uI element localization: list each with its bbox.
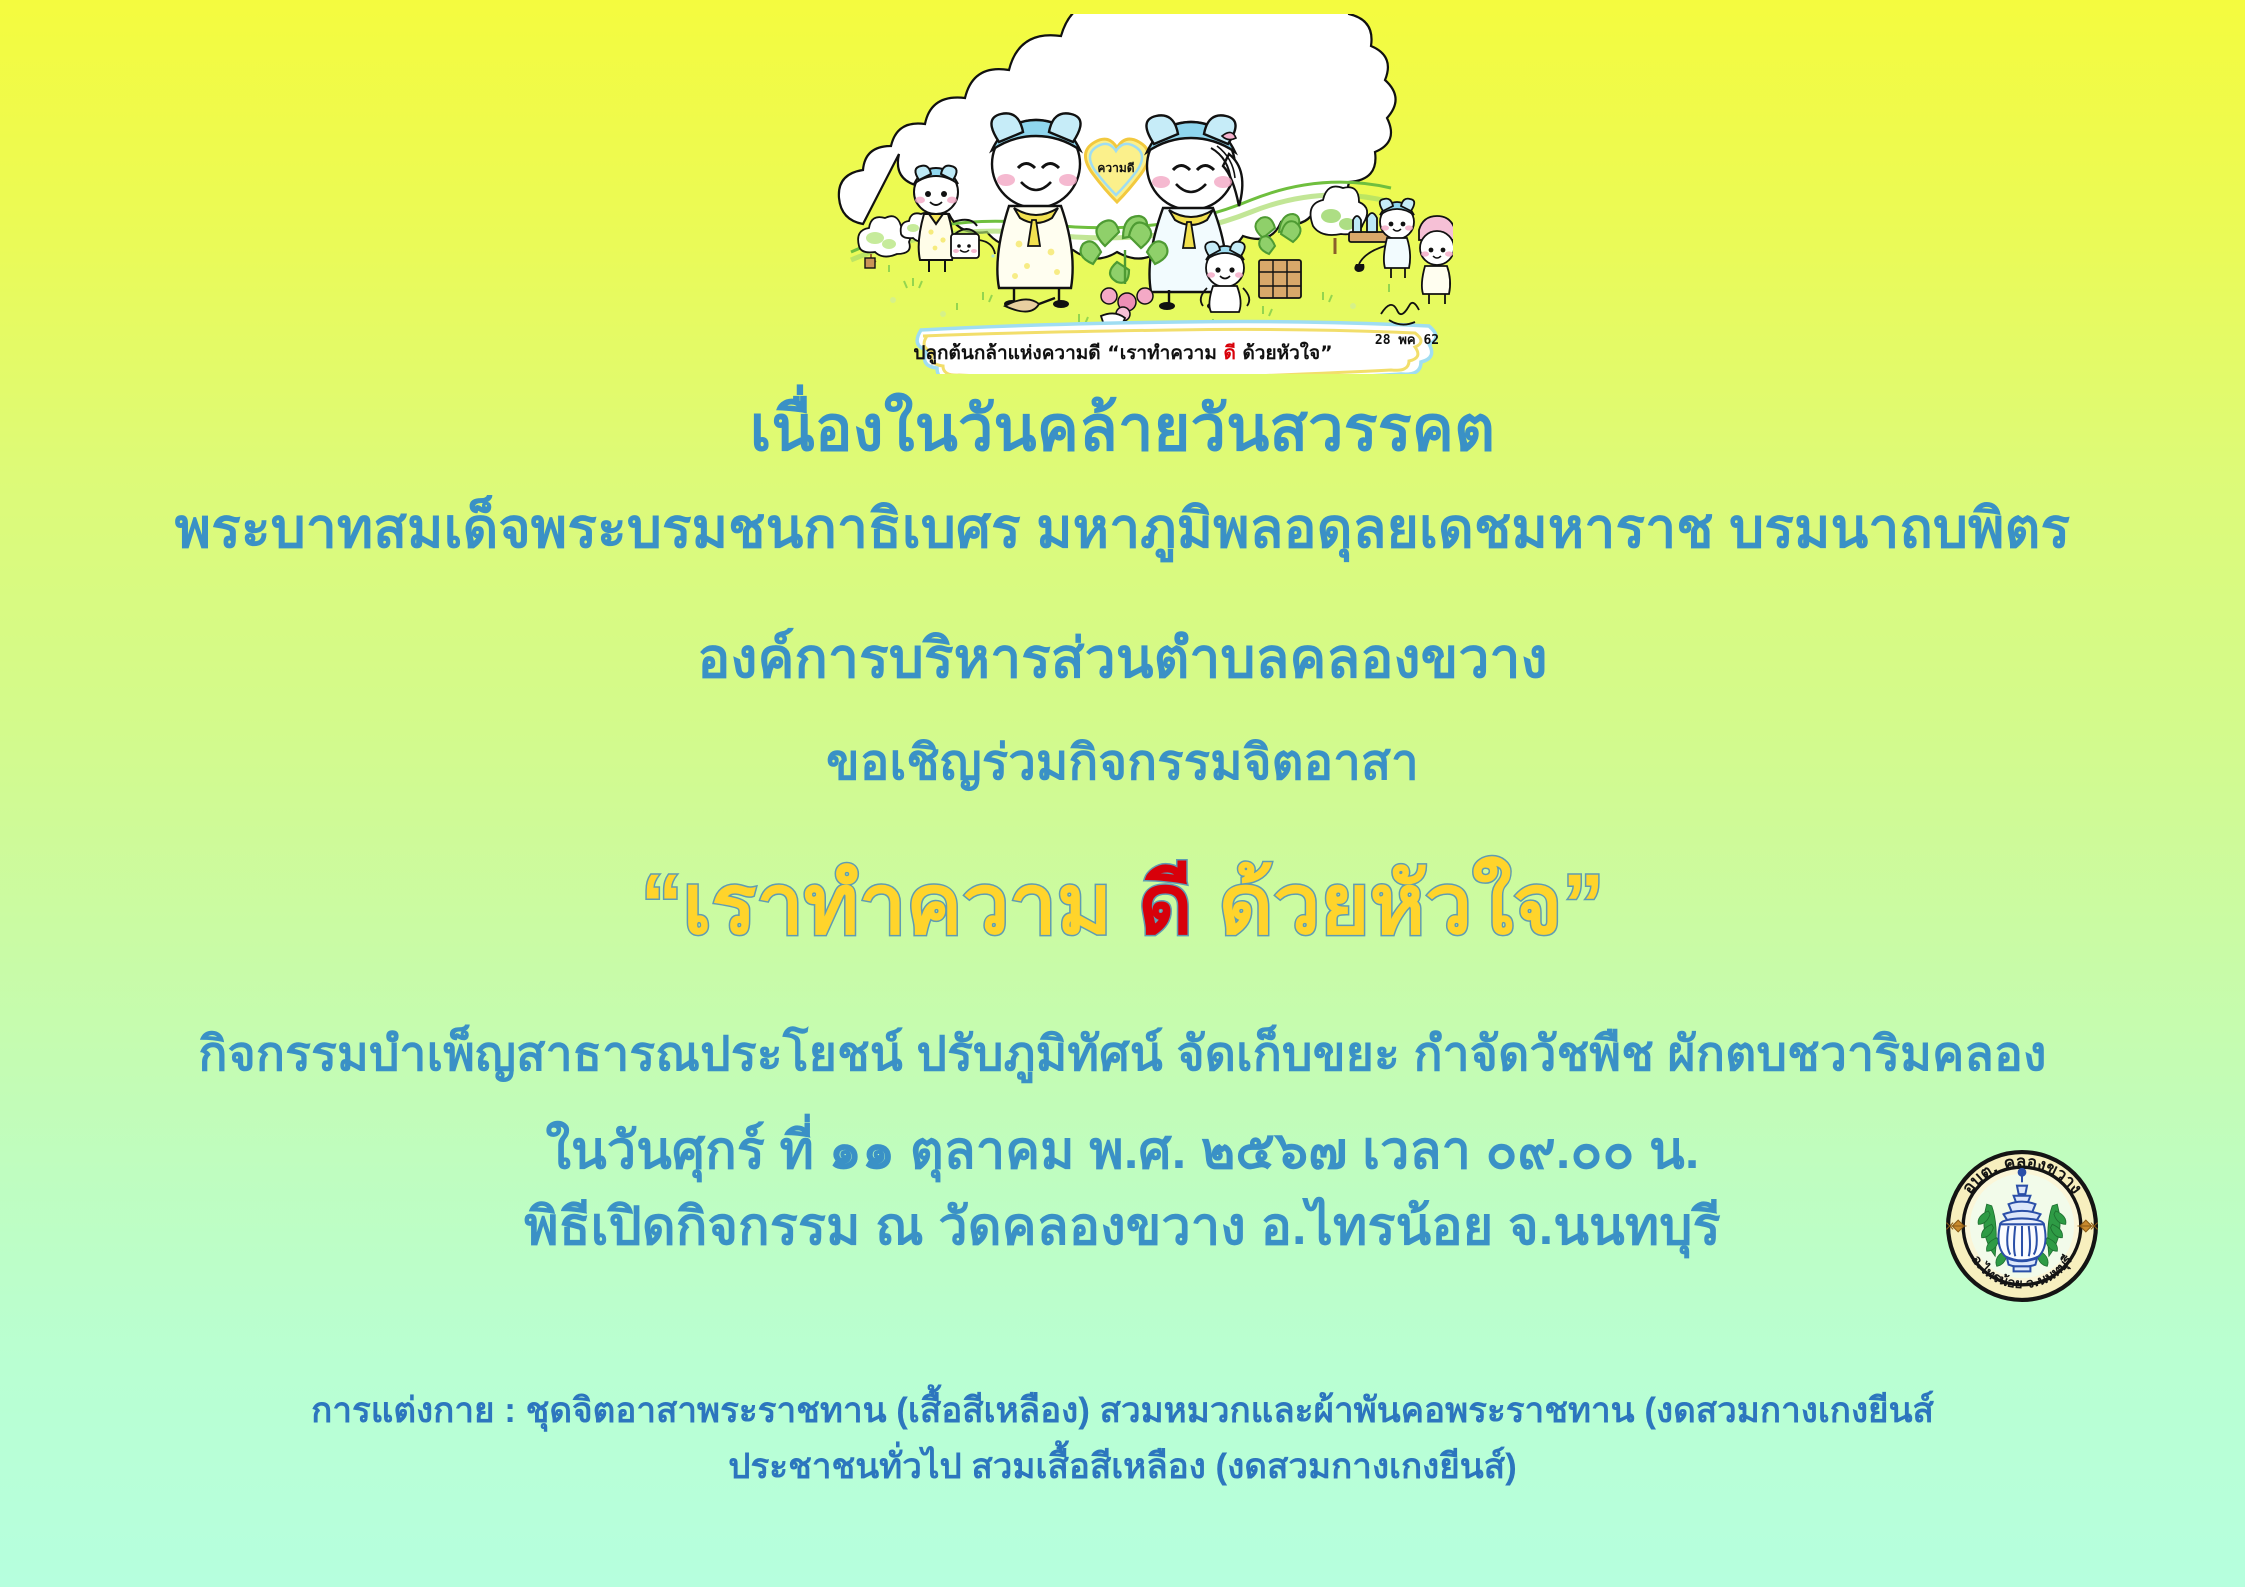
illustration-caption: ปลูกต้นกล้าแห่งความดี “เราทำความ ดี ด้วย… <box>913 341 1332 365</box>
event-venue: พิธีเปิดกิจกรรม ณ วัดคลองขวาง อ.ไทรน้อย … <box>0 1200 2245 1255</box>
activity-description: กิจกรรมบำเพ็ญสาธารณประโยชน์ ปรับภูมิทัศน… <box>0 1030 2245 1080</box>
heading-line-1: เนื่องในวันคล้ายวันสวรรคต <box>0 396 2245 462</box>
subdistrict-administrative-organization-seal: อบต. คลองขวาง อ.ไทรน้อย จ.นนทบุรี <box>1938 1142 2106 1310</box>
dresscode-line-2: ประชาชนทั่วไป สวมเสื้อสีเหลือง (งดสวมกาง… <box>0 1448 2245 1486</box>
dresscode-line-1: การแต่งกาย : ชุดจิตอาสาพระราชทาน (เสื้อส… <box>0 1392 2245 1430</box>
heading-line-2: พระบาทสมเด็จพระบรมชนกาธิเบศร มหาภูมิพลอด… <box>0 500 2245 558</box>
slogan-highlight-word: ดี <box>1138 857 1193 951</box>
slogan-part-2: ด้วยหัวใจ <box>1219 857 1563 951</box>
slogan-part-1: เราทำความ <box>683 857 1112 951</box>
slogan-close-quote: ” <box>1562 857 1604 951</box>
slogan-open-quote: “ <box>641 857 683 951</box>
event-datetime: ในวันศุกร์ ที่ ๑๑ ตุลาคม พ.ศ. ๒๕๖๗ เวลา … <box>0 1124 2245 1179</box>
signature-date: 28 พค 62 <box>1374 333 1438 348</box>
main-slogan: “เราทำความดีด้วยหัวใจ” <box>0 858 2245 950</box>
volunteer-planting-illustration: ความดี <box>793 14 1453 374</box>
poster-canvas: ความดี <box>0 0 2245 1587</box>
invitation-text: ขอเชิญร่วมกิจกรรมจิตอาสา <box>0 738 2245 789</box>
svg-text:ความดี: ความดี <box>1097 161 1134 175</box>
organization-name: องค์การบริหารส่วนตำบลคลองขวาง <box>0 630 2245 688</box>
